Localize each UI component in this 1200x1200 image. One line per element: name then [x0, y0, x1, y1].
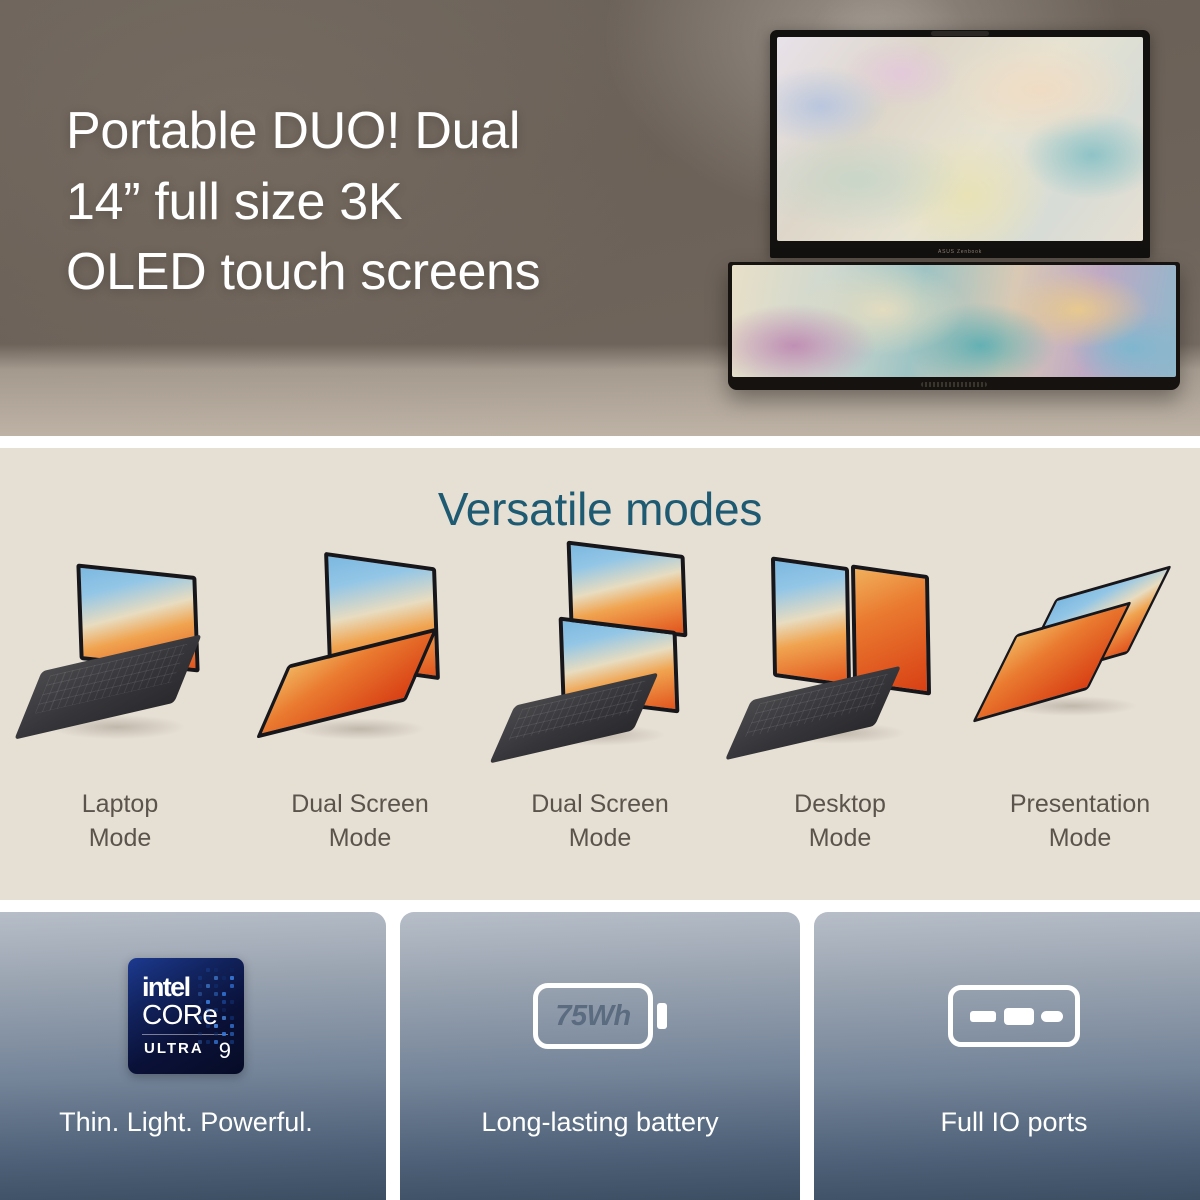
port-usb-c: [1041, 1011, 1063, 1022]
mode-label-desktop: Desktop Mode: [720, 788, 960, 855]
hero-section: Portable DUO! Dual 14” full size 3K OLED…: [0, 0, 1200, 436]
webcam-notch: [931, 31, 989, 36]
laptop-lower-screen-deck: [728, 262, 1180, 390]
mode-item-laptop: Laptop Mode: [0, 552, 240, 900]
battery-icon: 75Wh: [533, 983, 667, 1049]
mode-item-desktop: Desktop Mode: [720, 552, 960, 900]
io-ports-icon: [948, 985, 1080, 1047]
hero-headline: Portable DUO! Dual 14” full size 3K OLED…: [66, 96, 686, 308]
intel-core-ultra-badge-icon: intel CORe ULTRA 9: [128, 956, 244, 1076]
asus-zenbook-brand-text: ASUS Zenbook: [770, 249, 1150, 255]
mode-label-presentation: Presentation Mode: [960, 788, 1200, 855]
modes-row: Laptop Mode Dual Screen Mode Dual Screen…: [0, 552, 1200, 900]
battery-body: 75Wh: [533, 983, 653, 1049]
speaker-grille: [921, 382, 987, 387]
mode-item-dual-screen-book: Dual Screen Mode: [240, 552, 480, 900]
ultra-wordmark: ULTRA: [144, 1040, 204, 1057]
feature-card-label-processor: Thin. Light. Powerful.: [0, 1107, 386, 1138]
port-hdmi: [1004, 1008, 1034, 1025]
left-screen: [771, 556, 851, 687]
mode-illustration-desktop: [720, 552, 960, 782]
modes-section-title: Versatile modes: [0, 448, 1200, 536]
feature-card-battery: 75Wh Long-lasting battery: [400, 912, 800, 1200]
feature-cards-section: intel CORe ULTRA 9 Thin. Light. Powerful…: [0, 912, 1200, 1200]
mode-illustration-flat-open: [960, 552, 1200, 782]
badge-dot-matrix: [198, 968, 238, 1060]
versatile-modes-section: Versatile modes Laptop Mode Dual Screen …: [0, 448, 1200, 900]
hero-product-image-dual-screen-laptop: ASUS Zenbook: [712, 30, 1192, 398]
mode-label-dual-screen-book: Dual Screen Mode: [240, 788, 480, 855]
battery-terminal: [657, 1003, 667, 1029]
lower-display-wallpaper: [732, 265, 1176, 377]
mode-illustration-dual-book: [240, 552, 480, 782]
mode-label-laptop: Laptop Mode: [0, 788, 240, 855]
intel-badge: intel CORe ULTRA 9: [128, 958, 244, 1074]
mode-label-dual-screen-stacked: Dual Screen Mode: [480, 788, 720, 855]
upper-display-wallpaper: [777, 37, 1143, 241]
laptop-upper-lid: ASUS Zenbook: [770, 30, 1150, 258]
mode-illustration-laptop-open: [0, 552, 240, 782]
mode-item-dual-screen-stacked: Dual Screen Mode: [480, 552, 720, 900]
mode-illustration-dual-stacked: [480, 552, 720, 782]
io-ports-icon-wrapper: [948, 956, 1080, 1076]
battery-capacity-text: 75Wh: [555, 1000, 630, 1033]
feature-card-label-battery: Long-lasting battery: [400, 1107, 800, 1138]
port-usb-a: [970, 1011, 996, 1022]
battery-icon-wrapper: 75Wh: [533, 956, 667, 1076]
feature-card-label-ports: Full IO ports: [814, 1107, 1200, 1138]
feature-card-processor: intel CORe ULTRA 9 Thin. Light. Powerful…: [0, 912, 386, 1200]
mode-item-presentation: Presentation Mode: [960, 552, 1200, 900]
feature-card-ports: Full IO ports: [814, 912, 1200, 1200]
